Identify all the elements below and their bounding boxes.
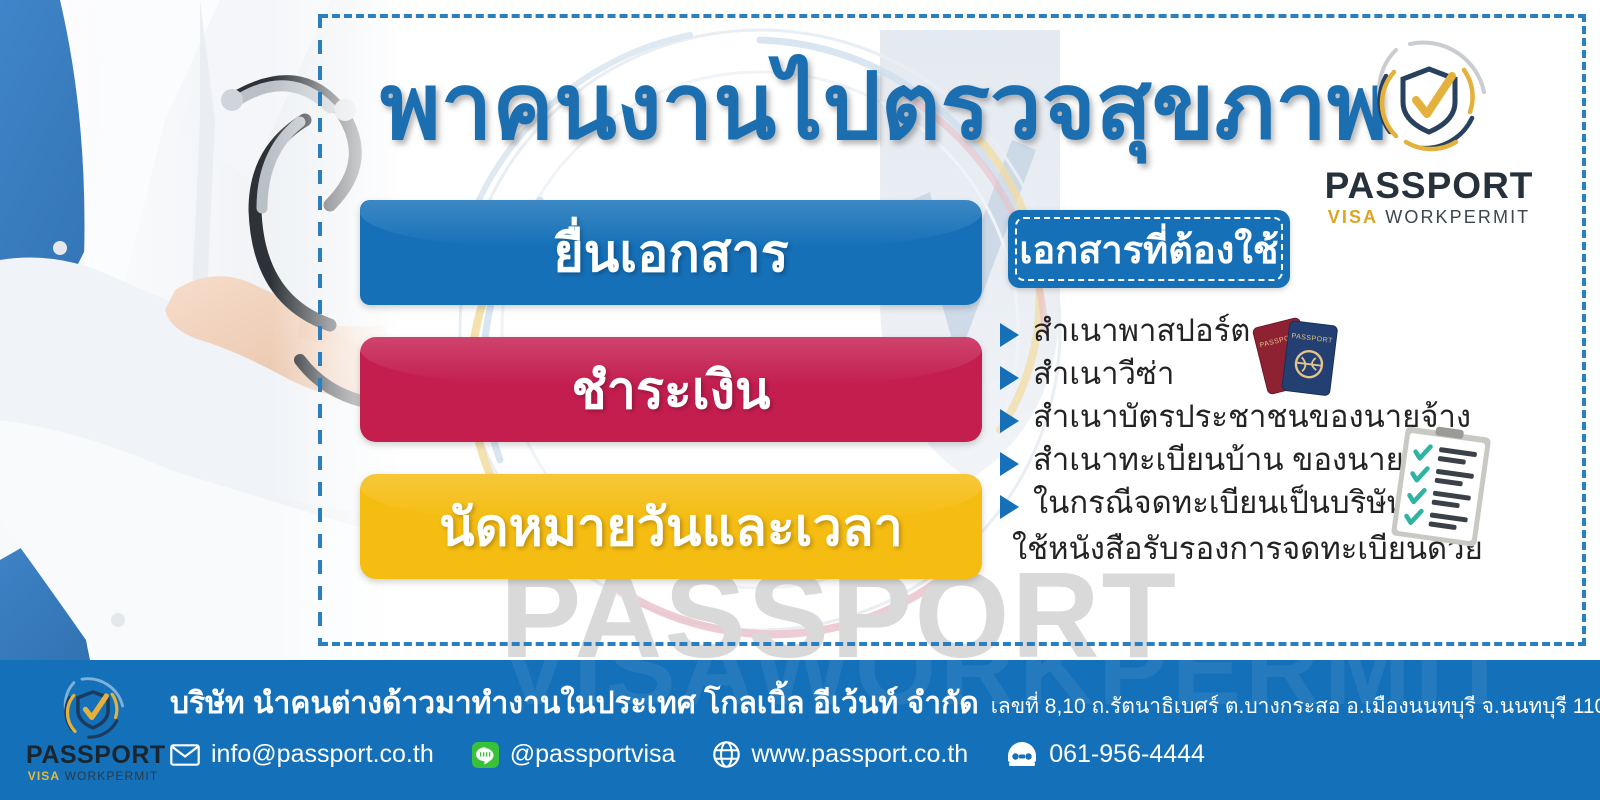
telephone-icon [1006,742,1038,768]
doctor-photo [0,0,400,660]
contact-value: 061-956-4444 [1049,740,1205,769]
brand-name: PASSPORT [26,742,160,769]
brand-tagline-workpermit: WORKPERMIT [65,769,159,783]
brand-logo-top: PASSPORT VISA WORKPERMIT [1322,36,1536,228]
banner-artboard: PASSPORT VISAWORKPERMIT [0,0,1600,660]
step-pill-book-appointment[interactable]: นัดหมายวันและเวลา [360,474,982,579]
brand-tagline-visa: VISA [1328,207,1378,227]
triangle-bullet-icon [1000,495,1019,519]
checklist-clipboard-illustration [1384,424,1504,550]
documents-required-label: เอกสารที่ต้องใช้ [1019,219,1278,280]
passports-illustration: PASSPORT PASSPORT [1252,308,1348,402]
contact-phone[interactable]: 061-956-4444 [1006,740,1205,769]
step-pill-label: ชำระเงิน [571,348,770,431]
footer-company-line: บริษัท นำคนต่างด้าวมาทำงานในประเทศ โกลเบ… [170,680,1600,727]
dashed-frame-left-edge [318,14,322,646]
step-pill-label: ยื่นเอกสาร [553,211,788,294]
step-pill-make-payment[interactable]: ชำระเงิน [360,337,982,442]
contact-value: @passportvisa [510,740,676,769]
brand-tagline: VISA WORKPERMIT [1322,206,1536,228]
list-item-label: สำเนาวีซ่า [1033,353,1174,395]
documents-required-badge: เอกสารที่ต้องใช้ [1008,210,1290,288]
brand-tagline-visa: VISA [28,769,60,783]
brand-tagline: VISA WORKPERMIT [26,769,160,784]
step-pill-submit-documents[interactable]: ยื่นเอกสาร [360,200,982,305]
line-app-icon [472,742,499,768]
list-item-label: สำเนาพาสปอร์ต [1033,310,1250,352]
brand-tagline-workpermit: WORKPERMIT [1385,207,1530,227]
company-address: เลขที่ 8,10 ถ.รัตนาธิเบศร์ ต.บางกระสอ อ.… [991,690,1600,723]
contact-email[interactable]: info@passport.co.th [170,740,434,769]
footer-bar: VISAWORKPERMIT PASSPORT VISA WORKPERMIT [0,660,1600,800]
step-pill-label: นัดหมายวันและเวลา [439,485,903,568]
brand-name: PASSPORT [1322,166,1536,206]
globe-icon [713,741,740,768]
company-name: บริษัท นำคนต่างด้าวมาทำงานในประเทศ โกลเบ… [170,680,979,727]
contact-value: info@passport.co.th [211,740,434,769]
health-checkup-promo-banner: PASSPORT VISAWORKPERMIT [0,0,1600,800]
triangle-bullet-icon [1000,409,1019,433]
triangle-bullet-icon [1000,452,1019,476]
contact-line[interactable]: @passportvisa [472,740,676,769]
envelope-icon [170,744,200,766]
footer-content: บริษัท นำคนต่างด้าวมาทำงานในประเทศ โกลเบ… [170,680,1600,769]
contact-value: www.passport.co.th [751,740,968,769]
brand-logo-footer: PASSPORT VISA WORKPERMIT [26,674,160,784]
shield-check-emblem-icon [53,674,133,740]
shield-check-emblem-icon [1360,36,1498,160]
triangle-bullet-icon [1000,366,1019,390]
list-item-label: ในกรณีจดทะเบียนเป็นบริษัท [1033,482,1407,524]
contact-row: info@passport.co.th @passportvisa [170,740,1600,769]
triangle-bullet-icon [1000,323,1019,347]
page-title: พาคนงานไปตรวจสุขภาพ [380,52,1310,162]
contact-website[interactable]: www.passport.co.th [713,740,968,769]
